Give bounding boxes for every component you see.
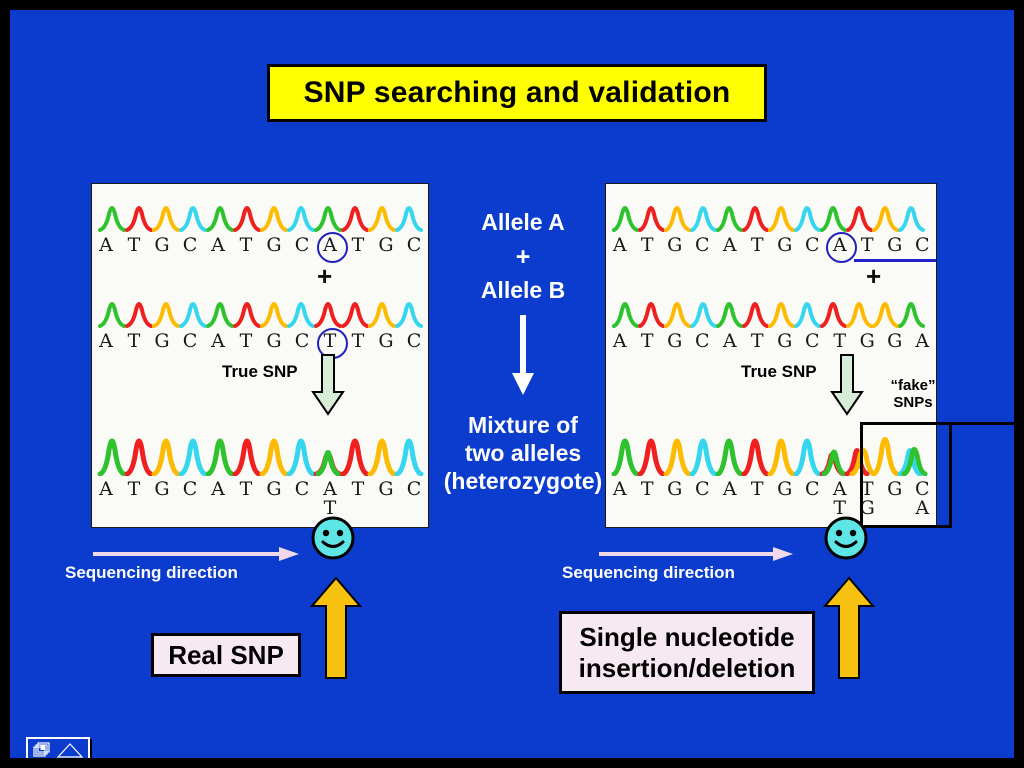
base-underlined: G bbox=[881, 236, 909, 255]
slide-stack-icon bbox=[34, 743, 49, 756]
base: C bbox=[799, 480, 827, 499]
fake-snps-label-line2: SNPs bbox=[876, 395, 950, 412]
page-title: SNP searching and validation bbox=[267, 64, 767, 122]
base: C bbox=[689, 236, 717, 255]
slide-root: SNP searching and validation bbox=[0, 0, 1024, 768]
base: C bbox=[400, 480, 428, 499]
base: T bbox=[634, 332, 662, 351]
fake-snps-label: “fake” SNPs bbox=[876, 378, 950, 412]
right-allele-a-peaks bbox=[606, 198, 936, 232]
yellow-up-arrow-left-icon bbox=[310, 576, 362, 680]
true-snp-arrow-right bbox=[830, 354, 864, 416]
base: A bbox=[92, 236, 120, 255]
base: C bbox=[176, 236, 204, 255]
base: T bbox=[826, 332, 854, 351]
mixture-line1: Mixture of bbox=[434, 411, 612, 439]
caption-indel-line1: Single nucleotide bbox=[579, 622, 796, 652]
base: C bbox=[176, 332, 204, 351]
base: A bbox=[92, 332, 120, 351]
base: C bbox=[288, 236, 316, 255]
base: G bbox=[148, 236, 176, 255]
caption-indel-text: Single nucleotide insertion/deletion bbox=[579, 622, 796, 682]
right-plus-sign: + bbox=[866, 261, 881, 292]
base: G bbox=[260, 332, 288, 351]
smiley-face-icon-left bbox=[310, 515, 356, 561]
base: T bbox=[744, 332, 772, 351]
left-allele-a-trace: A T G C A T G C A T G C bbox=[92, 198, 428, 255]
left-allele-a-peaks bbox=[92, 198, 428, 232]
base: G bbox=[771, 480, 799, 499]
base: T bbox=[344, 236, 372, 255]
base: T bbox=[232, 332, 260, 351]
base: G bbox=[148, 332, 176, 351]
caption-indel: Single nucleotide insertion/deletion bbox=[559, 611, 815, 694]
left-allele-b-peaks bbox=[92, 294, 428, 328]
base: C bbox=[689, 332, 717, 351]
base: T bbox=[344, 480, 372, 499]
base: T bbox=[744, 236, 772, 255]
base-heterozygous: A T bbox=[826, 480, 854, 518]
smiley-face-icon-right bbox=[823, 515, 869, 561]
mixture-line2: two alleles bbox=[434, 439, 612, 467]
base: A bbox=[204, 480, 232, 499]
base: T bbox=[120, 236, 148, 255]
mixture-line3: (heterozygote) bbox=[434, 467, 612, 495]
true-snp-label-right: True SNP bbox=[741, 362, 817, 382]
slide-navigation-toolbar[interactable] bbox=[26, 737, 90, 758]
base-underlined: C bbox=[909, 236, 937, 255]
base: G bbox=[372, 236, 400, 255]
base: C bbox=[799, 332, 827, 351]
base-heterozygous: A T bbox=[316, 480, 344, 518]
sequencing-direction-label-right: Sequencing direction bbox=[562, 563, 735, 583]
left-allele-a-bases: A T G C A T G C A T G C bbox=[92, 236, 428, 255]
base: A bbox=[716, 332, 744, 351]
base-circled-snp: A bbox=[316, 236, 344, 255]
caption-indel-line2: insertion/deletion bbox=[579, 653, 796, 683]
base: C bbox=[176, 480, 204, 499]
allele-b-label: Allele B bbox=[434, 276, 612, 305]
left-mixture-trace: A T G C A T G C A T T G bbox=[92, 430, 428, 518]
chromatogram-panel-left: A T G C A T G C A T G C + bbox=[91, 183, 429, 528]
base: A bbox=[716, 480, 744, 499]
base: G bbox=[661, 480, 689, 499]
page-title-text: SNP searching and validation bbox=[304, 76, 731, 110]
left-mixture-bases: A T G C A T G C A T T G bbox=[92, 480, 428, 518]
sequencing-direction-label-left: Sequencing direction bbox=[65, 563, 238, 583]
base: C bbox=[288, 332, 316, 351]
base: C bbox=[400, 236, 428, 255]
base: T bbox=[634, 480, 662, 499]
left-plus-sign: + bbox=[317, 261, 332, 292]
fake-snps-box bbox=[860, 422, 952, 528]
base: T bbox=[232, 236, 260, 255]
base-circled-snp: A bbox=[826, 236, 854, 255]
base: T bbox=[120, 332, 148, 351]
base: A bbox=[909, 332, 937, 351]
caption-real-snp: Real SNP bbox=[151, 633, 301, 677]
right-allele-a-trace: A T G C A T G C A T G C bbox=[606, 198, 936, 255]
base: G bbox=[854, 332, 882, 351]
sequencing-direction-arrow-left-icon bbox=[93, 546, 301, 562]
center-plus-label: + bbox=[434, 243, 612, 272]
right-allele-b-peaks bbox=[606, 294, 936, 328]
base: T bbox=[744, 480, 772, 499]
left-allele-b-trace: A T G C A T G C T T G C bbox=[92, 294, 428, 351]
triangle-icon bbox=[58, 744, 82, 757]
base: G bbox=[881, 332, 909, 351]
heterozygous-stack: A T bbox=[316, 480, 344, 518]
heterozygous-stack: A T bbox=[826, 480, 854, 518]
base: A bbox=[716, 236, 744, 255]
base: G bbox=[148, 480, 176, 499]
base-circled-snp: T bbox=[316, 332, 344, 351]
right-allele-a-bases: A T G C A T G C A T G C bbox=[606, 236, 936, 255]
left-allele-b-bases: A T G C A T G C T T G C bbox=[92, 332, 428, 351]
base: C bbox=[799, 236, 827, 255]
center-explanation: Allele A + Allele B Mixture of two allel… bbox=[434, 208, 612, 495]
base: G bbox=[661, 332, 689, 351]
base: G bbox=[260, 236, 288, 255]
sequencing-direction-arrow-right-icon bbox=[599, 546, 795, 562]
base: G bbox=[771, 332, 799, 351]
base: T bbox=[120, 480, 148, 499]
fake-snps-label-line1: “fake” bbox=[876, 378, 950, 395]
base: A bbox=[92, 480, 120, 499]
true-snp-label-left: True SNP bbox=[222, 362, 298, 382]
nav-icons-group bbox=[28, 739, 88, 758]
true-snp-arrow-left bbox=[311, 354, 345, 416]
right-allele-b-bases: A T G C A T G C T G G A bbox=[606, 332, 936, 351]
base: G bbox=[372, 332, 400, 351]
yellow-up-arrow-right-icon bbox=[823, 576, 875, 680]
base: A bbox=[204, 332, 232, 351]
base: A bbox=[204, 236, 232, 255]
base: C bbox=[689, 480, 717, 499]
center-down-arrow-icon bbox=[510, 315, 536, 397]
base: T bbox=[634, 236, 662, 255]
base: G bbox=[260, 480, 288, 499]
caption-real-snp-text: Real SNP bbox=[168, 640, 284, 670]
left-mixture-peaks bbox=[92, 430, 428, 476]
base: G bbox=[661, 236, 689, 255]
base: T bbox=[344, 332, 372, 351]
base: G bbox=[771, 236, 799, 255]
allele-a-label: Allele A bbox=[434, 208, 612, 237]
base: C bbox=[288, 480, 316, 499]
slide-canvas: SNP searching and validation bbox=[10, 10, 1014, 758]
fake-snps-rule bbox=[862, 422, 1014, 425]
base: G bbox=[372, 480, 400, 499]
right-allele-b-trace: A T G C A T G C T G G A bbox=[606, 294, 936, 351]
base: T bbox=[232, 480, 260, 499]
base: C bbox=[400, 332, 428, 351]
mixture-result: Mixture of two alleles (heterozygote) bbox=[434, 411, 612, 495]
base-underlined: T bbox=[854, 236, 882, 255]
